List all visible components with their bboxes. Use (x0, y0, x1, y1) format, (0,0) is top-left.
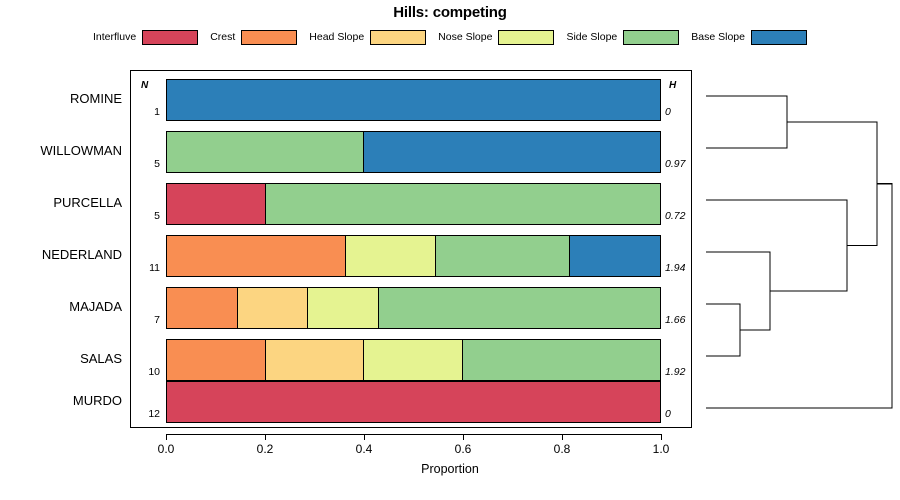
h-value: 0.97 (665, 158, 705, 170)
bar-segment[interactable] (266, 184, 660, 224)
bar-segment[interactable] (167, 132, 364, 172)
bar-segment[interactable] (364, 132, 660, 172)
bar-segment[interactable] (167, 80, 660, 120)
n-value: 12 (136, 408, 160, 420)
legend-item[interactable]: Interfluve (93, 30, 198, 45)
x-tick-mark (166, 434, 167, 440)
bar-segment[interactable] (379, 288, 661, 328)
n-value: 10 (136, 366, 160, 378)
stacked-bar (166, 381, 661, 423)
n-value: 5 (136, 210, 160, 222)
legend-swatch (241, 30, 297, 45)
stacked-bar (166, 339, 661, 381)
legend-item-label: Nose Slope (438, 31, 492, 43)
legend-swatch (751, 30, 807, 45)
legend-item[interactable]: Base Slope (691, 30, 807, 45)
bar-segment[interactable] (167, 236, 346, 276)
page-title: Hills: competing (0, 4, 900, 21)
h-value: 0 (665, 408, 705, 420)
dendro-branch-root (706, 184, 892, 408)
legend: InterfluveCrestHead SlopeNose SlopeSide … (0, 26, 900, 48)
legend-swatch (142, 30, 198, 45)
x-tick-mark (463, 434, 464, 440)
dendrogram (692, 60, 900, 440)
dendro-branch-nederland-cluster (706, 252, 770, 330)
dendro-branch-majada-salas (706, 304, 740, 356)
x-tick-mark (364, 434, 365, 440)
y-axis-label: SALAS (2, 351, 122, 366)
stacked-bar (166, 235, 661, 277)
x-tick-mark (265, 434, 266, 440)
dendro-branch-upper-cluster (787, 122, 877, 246)
x-tick-mark (562, 434, 563, 440)
chart-root: Hills: competing InterfluveCrestHead Slo… (0, 0, 900, 500)
h-value: 1.94 (665, 262, 705, 274)
legend-item[interactable]: Head Slope (309, 30, 426, 45)
x-tick-label: 1.0 (641, 442, 681, 456)
bar-segment[interactable] (436, 236, 570, 276)
bar-segment[interactable] (346, 236, 436, 276)
x-tick-label: 0.4 (344, 442, 384, 456)
legend-swatch (498, 30, 554, 45)
y-axis-label: PURCELLA (2, 195, 122, 210)
legend-item-label: Crest (210, 31, 235, 43)
x-tick-label: 0.0 (146, 442, 186, 456)
stacked-bar (166, 287, 661, 329)
y-axis-label: NEDERLAND (2, 247, 122, 262)
legend-item[interactable]: Crest (210, 30, 297, 45)
bar-segment[interactable] (463, 340, 660, 380)
n-value: 11 (136, 262, 160, 274)
x-axis-line (166, 434, 661, 435)
h-value: 0.72 (665, 210, 705, 222)
stacked-bar (166, 131, 661, 173)
bar-segment[interactable] (167, 288, 238, 328)
legend-item[interactable]: Nose Slope (438, 30, 554, 45)
legend-item-label: Head Slope (309, 31, 364, 43)
x-tick-label: 0.2 (245, 442, 285, 456)
legend-item-label: Side Slope (566, 31, 617, 43)
plot-panel (130, 70, 692, 428)
column-header-h: H (669, 80, 676, 91)
x-tick-mark (661, 434, 662, 440)
dendro-branch-purcella-cluster (706, 200, 847, 291)
legend-swatch (370, 30, 426, 45)
dendro-branch-romine-willowman (706, 96, 787, 148)
column-header-n: N (141, 80, 148, 91)
bar-segment[interactable] (167, 184, 266, 224)
x-tick-label: 0.8 (542, 442, 582, 456)
h-value: 0 (665, 106, 705, 118)
bar-segment[interactable] (167, 340, 266, 380)
bar-segment[interactable] (570, 236, 660, 276)
dendrogram-svg (692, 60, 900, 440)
legend-swatch (623, 30, 679, 45)
legend-item[interactable]: Side Slope (566, 30, 679, 45)
bar-segment[interactable] (308, 288, 379, 328)
x-tick-label: 0.6 (443, 442, 483, 456)
legend-item-label: Base Slope (691, 31, 745, 43)
n-value: 5 (136, 158, 160, 170)
bar-segment[interactable] (266, 340, 365, 380)
y-axis-label: MURDO (2, 393, 122, 408)
bar-segment[interactable] (238, 288, 309, 328)
stacked-bar (166, 183, 661, 225)
y-axis-label: WILLOWMAN (2, 143, 122, 158)
n-value: 7 (136, 314, 160, 326)
stacked-bar (166, 79, 661, 121)
y-axis-label: MAJADA (2, 299, 122, 314)
x-axis-title: Proportion (0, 462, 900, 476)
n-value: 1 (136, 106, 160, 118)
legend-item-label: Interfluve (93, 31, 136, 43)
bar-segment[interactable] (364, 340, 463, 380)
h-value: 1.92 (665, 366, 705, 378)
bar-segment[interactable] (167, 382, 660, 422)
y-axis-label: ROMINE (2, 91, 122, 106)
h-value: 1.66 (665, 314, 705, 326)
